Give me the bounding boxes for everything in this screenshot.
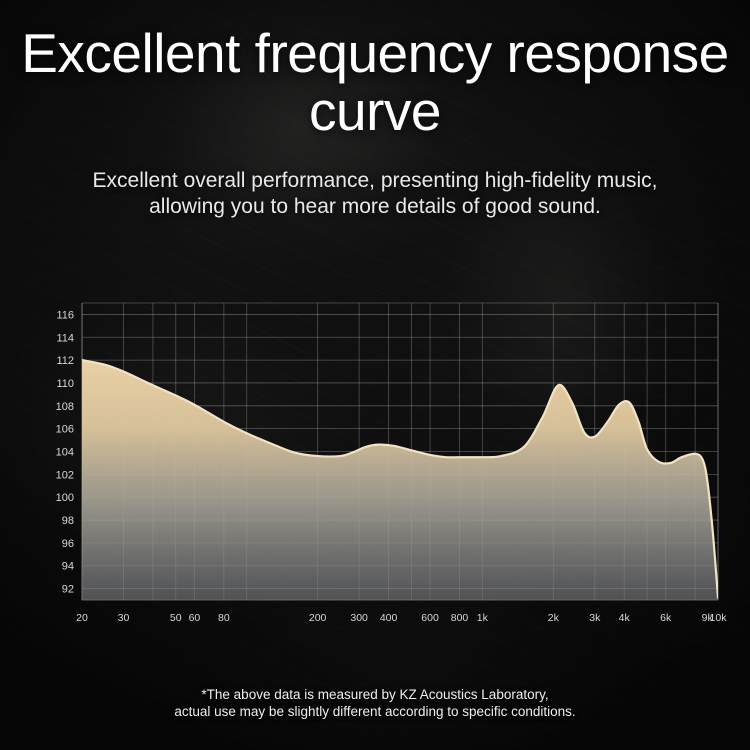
frequency-response-chart: 11611411211010810610410210098969492 2030…: [0, 280, 750, 660]
svg-text:94: 94: [62, 561, 74, 573]
svg-text:200: 200: [309, 612, 327, 624]
svg-text:92: 92: [62, 584, 74, 596]
svg-text:2k: 2k: [548, 612, 560, 624]
svg-text:300: 300: [350, 612, 368, 624]
footnote-line-2: actual use may be slightly different acc…: [0, 703, 750, 720]
chart-x-axis-labels: 20305060802003004006008001k2k3k4k6k9k10k: [76, 612, 727, 624]
footnote-line-1: *The above data is measured by KZ Acoust…: [0, 686, 750, 703]
svg-text:108: 108: [56, 401, 74, 413]
svg-text:114: 114: [56, 332, 74, 344]
svg-text:116: 116: [56, 309, 74, 321]
svg-text:1k: 1k: [477, 612, 489, 624]
svg-text:112: 112: [56, 355, 74, 367]
svg-text:800: 800: [451, 612, 469, 624]
svg-text:110: 110: [56, 378, 74, 390]
chart-y-axis-labels: 11611411211010810610410210098969492: [56, 309, 74, 595]
svg-text:98: 98: [62, 515, 74, 527]
svg-text:100: 100: [56, 492, 74, 504]
svg-text:104: 104: [56, 447, 74, 459]
disclaimer-note: *The above data is measured by KZ Acoust…: [0, 686, 750, 720]
svg-text:3k: 3k: [589, 612, 601, 624]
svg-text:96: 96: [62, 538, 74, 550]
subhead-line-2: allowing you to hear more details of goo…: [0, 194, 750, 220]
svg-text:4k: 4k: [619, 612, 631, 624]
svg-text:60: 60: [189, 612, 201, 624]
svg-text:102: 102: [56, 469, 74, 481]
subhead-line-1: Excellent overall performance, presentin…: [0, 168, 750, 194]
svg-text:6k: 6k: [660, 612, 672, 624]
headline-line-1: Excellent frequency: [21, 22, 492, 84]
page-title: Excellent frequency response curve: [0, 24, 750, 140]
svg-text:80: 80: [218, 612, 230, 624]
svg-text:106: 106: [56, 424, 74, 436]
svg-text:50: 50: [170, 612, 182, 624]
svg-text:10k: 10k: [710, 612, 728, 624]
svg-text:600: 600: [421, 612, 439, 624]
page-subtitle: Excellent overall performance, presentin…: [0, 168, 750, 220]
svg-text:30: 30: [118, 612, 130, 624]
svg-text:400: 400: [380, 612, 398, 624]
svg-text:20: 20: [76, 612, 88, 624]
promo-content: Excellent frequency response curve Excel…: [0, 0, 750, 750]
chart-canvas: 11611411211010810610410210098969492 2030…: [0, 280, 750, 660]
